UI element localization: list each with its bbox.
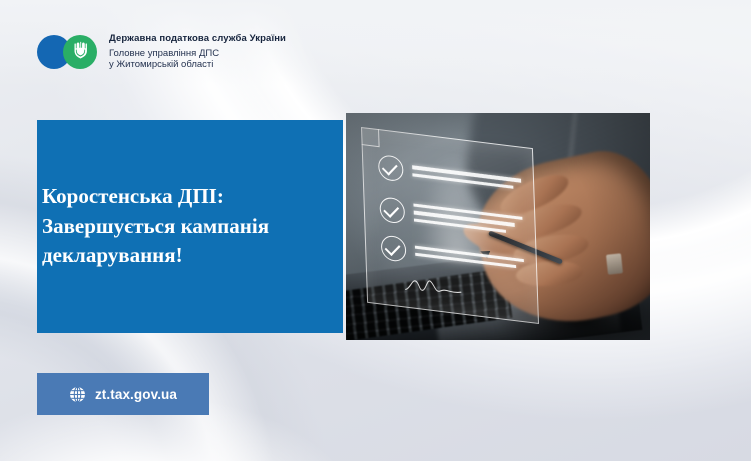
globe-icon	[69, 386, 86, 403]
website-url-text: zt.tax.gov.ua	[95, 387, 177, 402]
tax-service-announcement-banner: Державна податкова служба України Головн…	[0, 0, 751, 461]
headline-line-2: Завершується кампанія	[42, 212, 269, 242]
dps-green-circle	[63, 35, 97, 69]
signature-mark	[405, 271, 464, 299]
headline-line-1: Коростенська ДПІ:	[42, 182, 269, 212]
holographic-checklist-document	[361, 127, 539, 324]
dps-logo	[37, 35, 97, 69]
document-folded-corner	[361, 127, 380, 147]
organization-name-block: Державна податкова служба України Головн…	[109, 33, 286, 71]
photo-finger-ring-band	[606, 253, 623, 275]
checklist-text-lines	[415, 245, 524, 269]
headline-panel: Коростенська ДПІ: Завершується кампанія …	[37, 120, 343, 333]
ukraine-trident-icon	[72, 41, 89, 62]
org-title-line: Державна податкова служба України	[109, 33, 286, 45]
headline-line-3: декларування!	[42, 241, 269, 271]
check-circle-icon	[378, 154, 404, 182]
org-subtitle-line-2: у Житомирській області	[109, 59, 286, 71]
check-circle-icon	[380, 196, 406, 224]
website-url-badge[interactable]: zt.tax.gov.ua	[37, 373, 209, 415]
organization-header: Державна податкова служба України Головн…	[37, 33, 286, 71]
photo-scene	[346, 113, 650, 340]
org-subtitle-line-1: Головне управління ДПС	[109, 48, 286, 60]
page-title: Коростенська ДПІ: Завершується кампанія …	[37, 182, 285, 271]
check-circle-icon	[381, 234, 407, 262]
hero-photo	[346, 113, 650, 340]
